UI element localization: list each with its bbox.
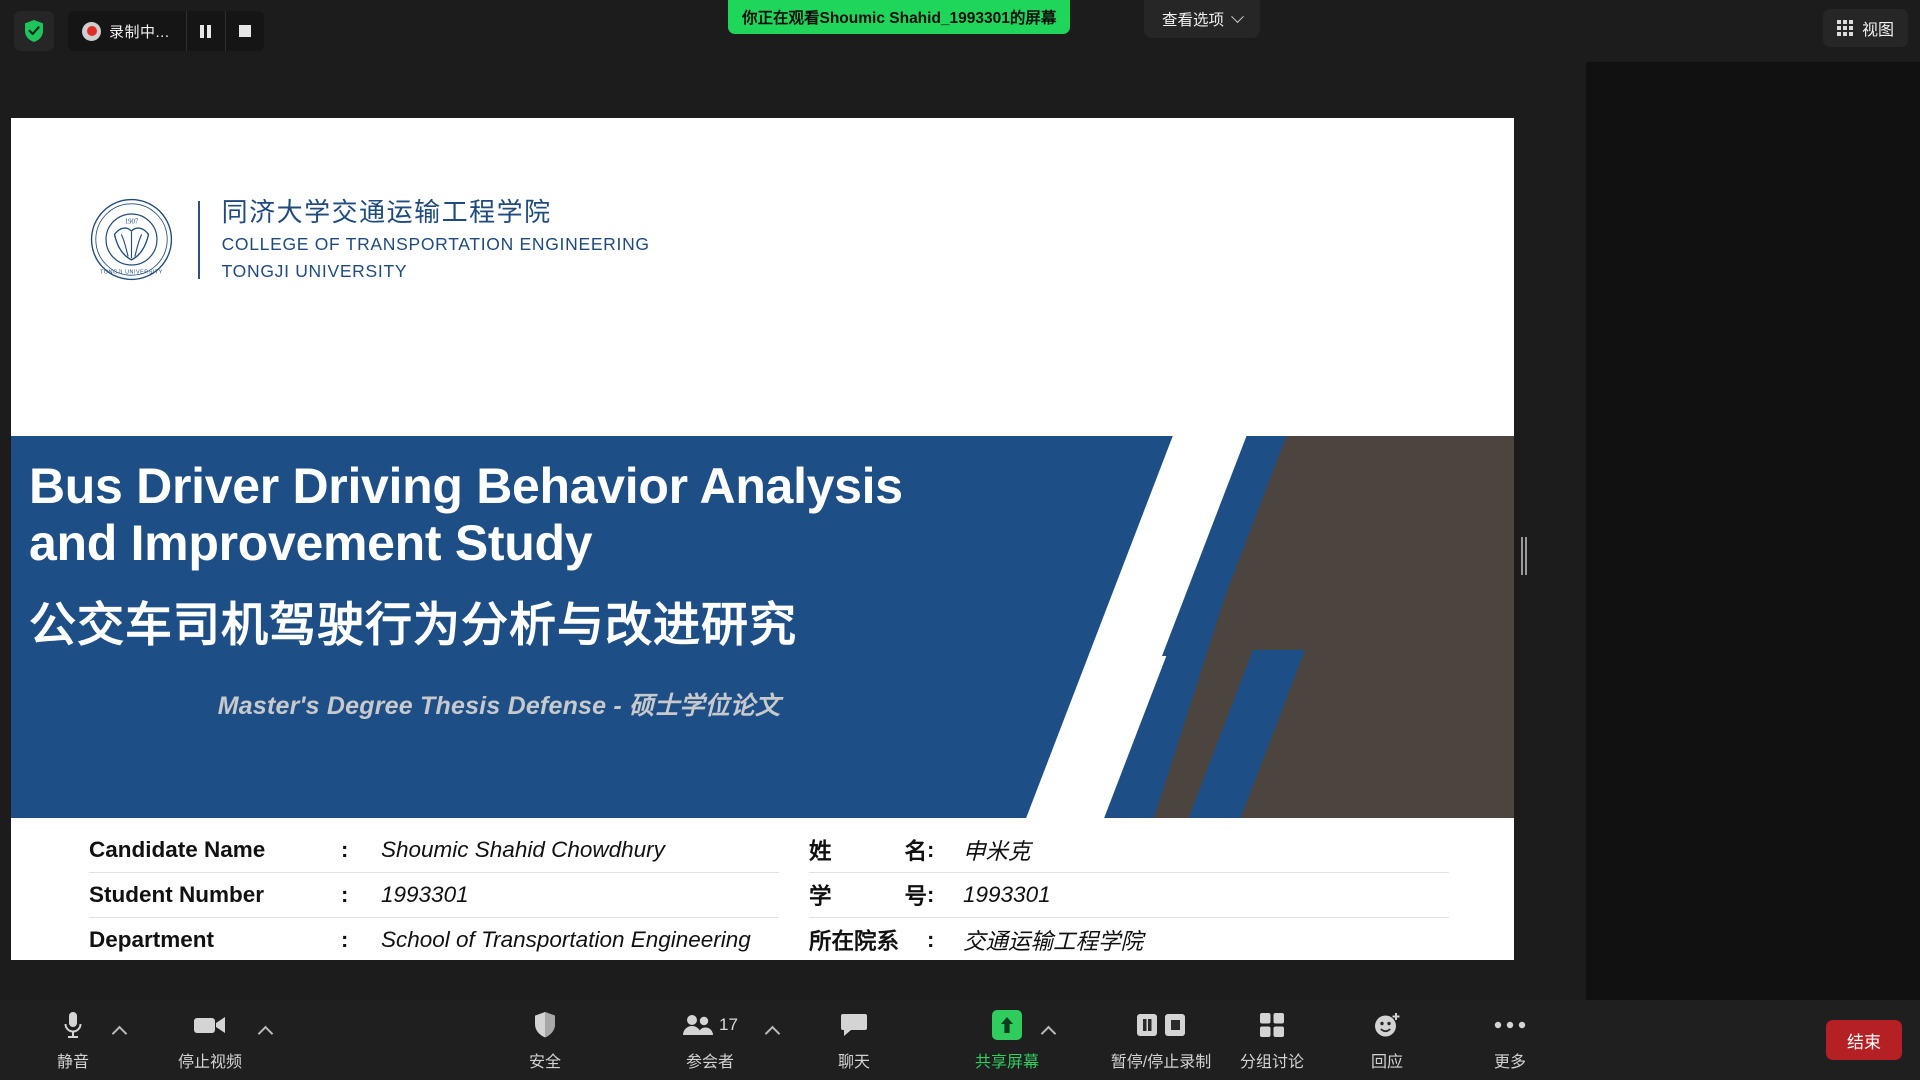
row-value: 申米克 — [963, 834, 1031, 866]
row-label: 所在院系 — [809, 924, 927, 956]
row-label: Student Number — [89, 882, 341, 908]
chevron-down-icon — [1231, 10, 1244, 23]
audio-options-caret-button[interactable] — [112, 1022, 128, 1038]
video-camera-icon — [193, 1008, 227, 1042]
view-options-label: 查看选项 — [1162, 8, 1224, 30]
security-button-label: 安全 — [529, 1048, 561, 1072]
meeting-security-shield-button[interactable] — [14, 11, 54, 51]
row-value: Shoumic Shahid Chowdhury — [381, 837, 665, 863]
row-value: 交通运输工程学院 — [963, 924, 1143, 956]
grid-four-icon — [1259, 1008, 1285, 1042]
more-button-label: 更多 — [1494, 1048, 1526, 1072]
university-name-cn: 同济大学交通运输工程学院 — [222, 196, 650, 229]
row-colon: : — [341, 837, 381, 863]
end-meeting-button[interactable]: 结束 — [1826, 1020, 1902, 1060]
video-options-caret-button[interactable] — [258, 1022, 274, 1038]
participants-icon: 17 — [682, 1008, 738, 1042]
view-options-button[interactable]: 查看选项 — [1144, 0, 1260, 38]
row-value: School of Transportation Engineering — [381, 927, 751, 953]
candidate-info-table: Candidate Name : Shoumic Shahid Chowdhur… — [11, 828, 1514, 960]
divider — [198, 201, 200, 279]
meeting-toolbar: 静音 停止视频 安全 — [0, 1000, 1920, 1080]
row-colon: : — [341, 882, 381, 908]
mute-button[interactable]: 静音 — [40, 1008, 106, 1074]
shield-check-icon — [23, 19, 45, 43]
view-button-label: 视图 — [1862, 16, 1894, 40]
chat-bubble-icon — [840, 1008, 868, 1042]
logo-text-group: 同济大学交通运输工程学院 COLLEGE OF TRANSPORTATION E… — [222, 196, 650, 283]
participants-count: 17 — [719, 1015, 738, 1035]
pause-stop-recording-button-label: 暂停/停止录制 — [1111, 1048, 1211, 1072]
table-row: Candidate Name : Shoumic Shahid Chowdhur… — [89, 828, 779, 873]
view-layout-button[interactable]: 视图 — [1823, 9, 1908, 47]
end-meeting-button-label: 结束 — [1847, 1028, 1881, 1053]
breakout-rooms-button[interactable]: 分组讨论 — [1222, 1008, 1322, 1074]
stop-video-button[interactable]: 停止视频 — [160, 1008, 260, 1074]
title-band: Bus Driver Driving Behavior Analysis and… — [11, 436, 1514, 818]
zoom-meeting-window: 录制中... 你正在观看Shoumic Shahid_1993301的屏幕 查看… — [0, 0, 1920, 1080]
stop-recording-button[interactable] — [226, 11, 264, 51]
participants-options-caret-button[interactable] — [765, 1022, 781, 1038]
table-row: Student Number : 1993301 — [89, 873, 779, 918]
share-screen-button-label: 共享屏幕 — [975, 1048, 1039, 1072]
pause-icon — [1136, 1012, 1158, 1038]
thesis-subtitle: Master's Degree Thesis Defense - 硕士学位论文 — [29, 686, 969, 722]
table-row: 姓名 : 申米克 — [809, 828, 1449, 873]
top-bar: 录制中... 你正在观看Shoumic Shahid_1993301的屏幕 查看… — [0, 0, 1920, 62]
candidate-info-right-column: 姓名 : 申米克 学号 : 1993301 所在院系 : 交通运输工程学院 — [809, 828, 1449, 960]
title-text-group: Bus Driver Driving Behavior Analysis and… — [11, 436, 1111, 722]
smiley-plus-icon — [1373, 1008, 1401, 1042]
pause-icon — [200, 25, 211, 38]
row-label: Candidate Name — [89, 837, 341, 863]
chat-button-label: 聊天 — [838, 1048, 870, 1072]
candidate-info-left-column: Candidate Name : Shoumic Shahid Chowdhur… — [89, 828, 779, 960]
share-options-caret-button[interactable] — [1041, 1022, 1057, 1038]
shield-icon — [533, 1008, 557, 1042]
svg-text:TONGJI UNIVERSITY: TONGJI UNIVERSITY — [100, 270, 163, 276]
row-label: 姓名 — [809, 834, 927, 866]
thesis-title-en-line2: and Improvement Study — [29, 515, 1111, 572]
row-label: Department — [89, 927, 341, 953]
reactions-button[interactable]: 回应 — [1352, 1008, 1422, 1074]
chat-button[interactable]: 聊天 — [820, 1008, 888, 1074]
table-row: 所在院系 : 交通运输工程学院 — [809, 918, 1449, 960]
microphone-icon — [62, 1008, 84, 1042]
panel-resize-handle[interactable] — [1521, 537, 1527, 575]
table-row: 学号 : 1993301 — [809, 873, 1449, 918]
row-colon: : — [927, 837, 963, 863]
share-screen-button[interactable]: 共享屏幕 — [955, 1008, 1059, 1074]
record-dot-icon — [82, 22, 101, 41]
thesis-title-en-line1: Bus Driver Driving Behavior Analysis — [29, 458, 1111, 515]
pause-recording-button[interactable] — [187, 11, 225, 51]
recording-status-label: 录制中... — [109, 21, 186, 42]
row-label: 学号 — [809, 879, 927, 911]
row-value: 1993301 — [963, 882, 1051, 908]
stop-icon — [239, 25, 251, 37]
stop-icon — [1164, 1012, 1186, 1038]
row-colon: : — [927, 882, 963, 908]
more-button[interactable]: 更多 — [1475, 1008, 1545, 1074]
tongji-university-seal-icon: 1907 TONGJI UNIVERSITY — [89, 197, 174, 282]
viewing-shared-screen-banner: 你正在观看Shoumic Shahid_1993301的屏幕 — [728, 0, 1070, 34]
thesis-title-cn: 公交车司机驾驶行为分析与改进研究 — [29, 598, 1111, 652]
participants-button-label: 参会者 — [686, 1048, 734, 1072]
security-button[interactable]: 安全 — [510, 1008, 580, 1074]
recording-status-group — [68, 22, 109, 41]
college-name-en-line1: COLLEGE OF TRANSPORTATION ENGINEERING — [222, 233, 650, 256]
table-row: Department : School of Transportation En… — [89, 918, 779, 960]
viewing-shared-screen-label: 你正在观看Shoumic Shahid_1993301的屏幕 — [742, 6, 1056, 28]
participants-button[interactable]: 17 参会者 — [660, 1008, 760, 1074]
participant-filmstrip: Xudong Zhao Xuesong Wang (Tongji) — [1586, 62, 1920, 1000]
row-colon: : — [341, 927, 381, 953]
college-name-en-line2: TONGJI UNIVERSITY — [222, 260, 650, 283]
row-colon: : — [927, 927, 963, 953]
breakout-rooms-button-label: 分组讨论 — [1240, 1048, 1304, 1072]
pause-stop-recording-button[interactable]: 暂停/停止录制 — [1086, 1008, 1236, 1074]
svg-text:1907: 1907 — [125, 219, 139, 226]
stop-video-button-label: 停止视频 — [178, 1048, 242, 1072]
reactions-button-label: 回应 — [1371, 1048, 1403, 1072]
shared-screen-stage: 1907 TONGJI UNIVERSITY 同济大学交通运输工程学院 COLL… — [0, 62, 1586, 1000]
ellipsis-icon — [1494, 1008, 1526, 1042]
recording-indicator-bar: 录制中... — [68, 11, 264, 51]
recording-control-icons — [1136, 1008, 1186, 1042]
grid-icon — [1837, 20, 1853, 36]
mute-button-label: 静音 — [57, 1048, 89, 1072]
row-value: 1993301 — [381, 882, 469, 908]
presentation-slide: 1907 TONGJI UNIVERSITY 同济大学交通运输工程学院 COLL… — [11, 118, 1514, 960]
tongji-logo-block: 1907 TONGJI UNIVERSITY 同济大学交通运输工程学院 COLL… — [89, 196, 650, 283]
share-screen-up-arrow-icon — [992, 1008, 1022, 1042]
